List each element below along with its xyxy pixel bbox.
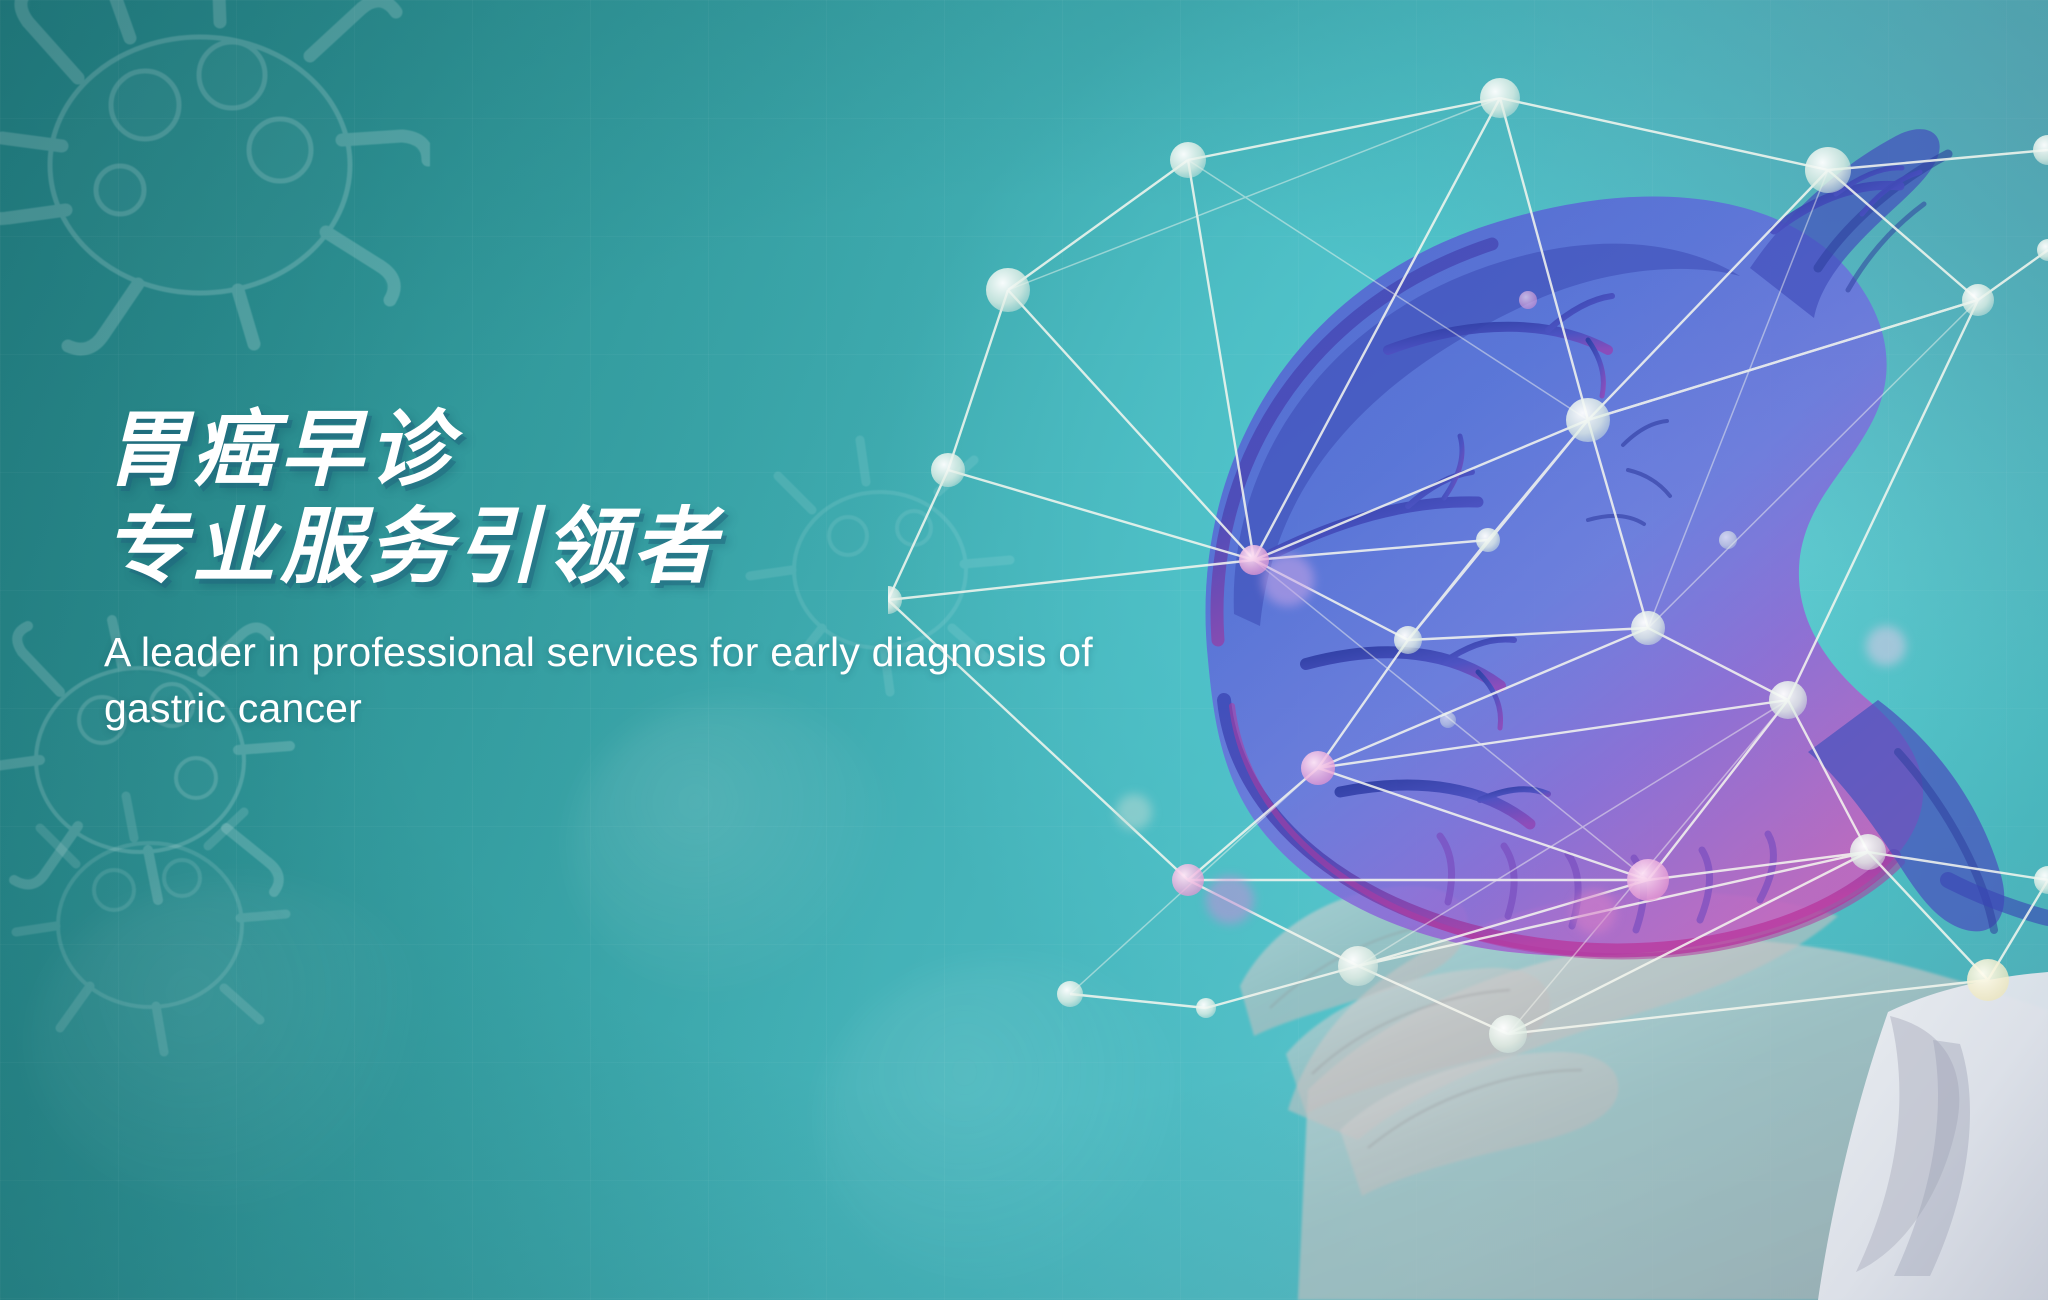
- headline-line-1: 胃癌早诊: [104, 404, 1104, 497]
- promo-banner: 胃癌早诊 专业服务引领者 A leader in professional se…: [0, 0, 2048, 1300]
- headline-line-2: 专业服务引领者: [104, 501, 1104, 594]
- copy-block: 胃癌早诊 专业服务引领者 A leader in professional se…: [104, 404, 1104, 737]
- subheadline: A leader in professional services for ea…: [104, 624, 1104, 737]
